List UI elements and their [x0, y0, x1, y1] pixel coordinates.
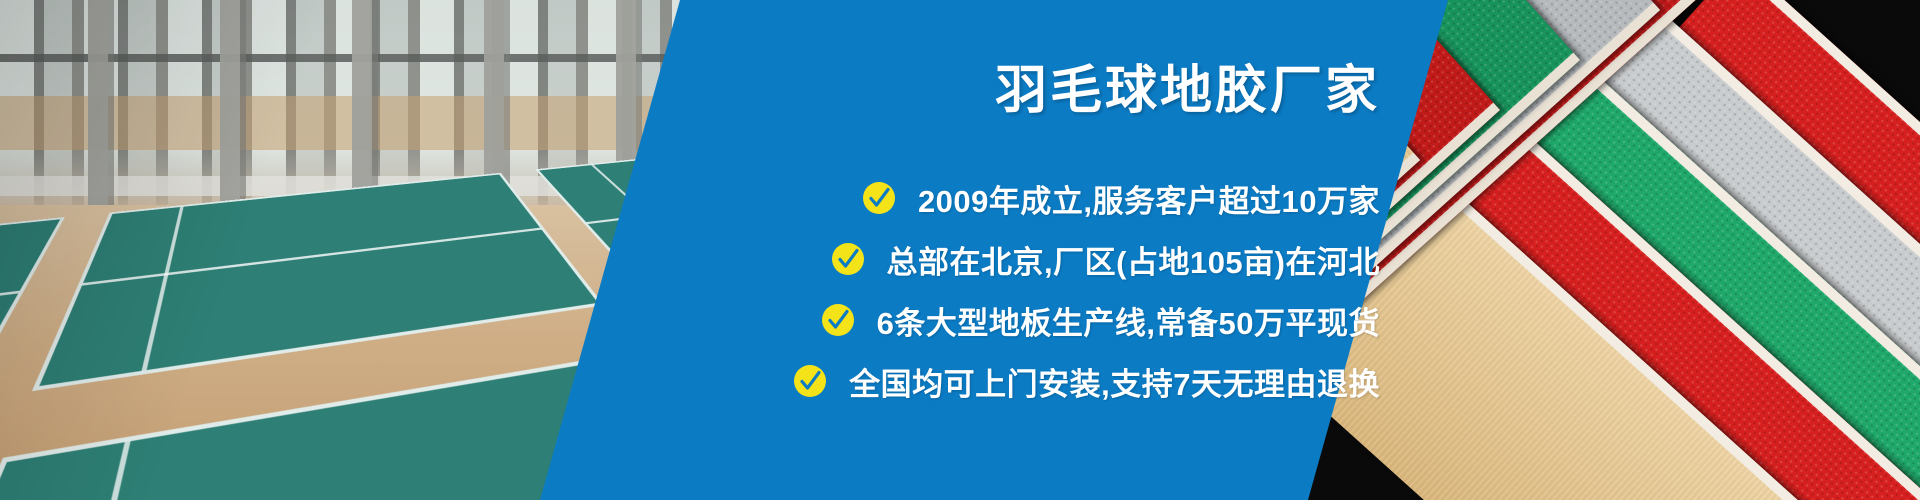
check-circle-icon	[821, 303, 855, 337]
list-item-label: 6条大型地板生产线,常备50万平现货	[877, 298, 1380, 343]
banner-content: 羽毛球地胶厂家 2009年成立,服务客户超过10万家	[0, 0, 1920, 500]
list-item: 总部在北京,厂区(占地105亩)在河北	[0, 239, 1380, 279]
promo-banner: 羽毛球地胶厂家 2009年成立,服务客户超过10万家	[0, 0, 1920, 500]
list-item: 6条大型地板生产线,常备50万平现货	[0, 300, 1380, 340]
list-item: 2009年成立,服务客户超过10万家	[0, 178, 1380, 218]
page-title: 羽毛球地胶厂家	[0, 62, 1380, 120]
check-circle-icon	[793, 364, 827, 398]
list-item-label: 总部在北京,厂区(占地105亩)在河北	[887, 237, 1380, 282]
list-item-label: 全国均可上门安装,支持7天无理由退换	[849, 359, 1380, 404]
feature-list: 2009年成立,服务客户超过10万家 总部在北京,厂区(占地105亩)在河北	[0, 178, 1380, 422]
list-item-label: 2009年成立,服务客户超过10万家	[918, 176, 1380, 221]
check-circle-icon	[831, 242, 865, 276]
list-item: 全国均可上门安装,支持7天无理由退换	[0, 361, 1380, 401]
check-circle-icon	[862, 181, 896, 215]
